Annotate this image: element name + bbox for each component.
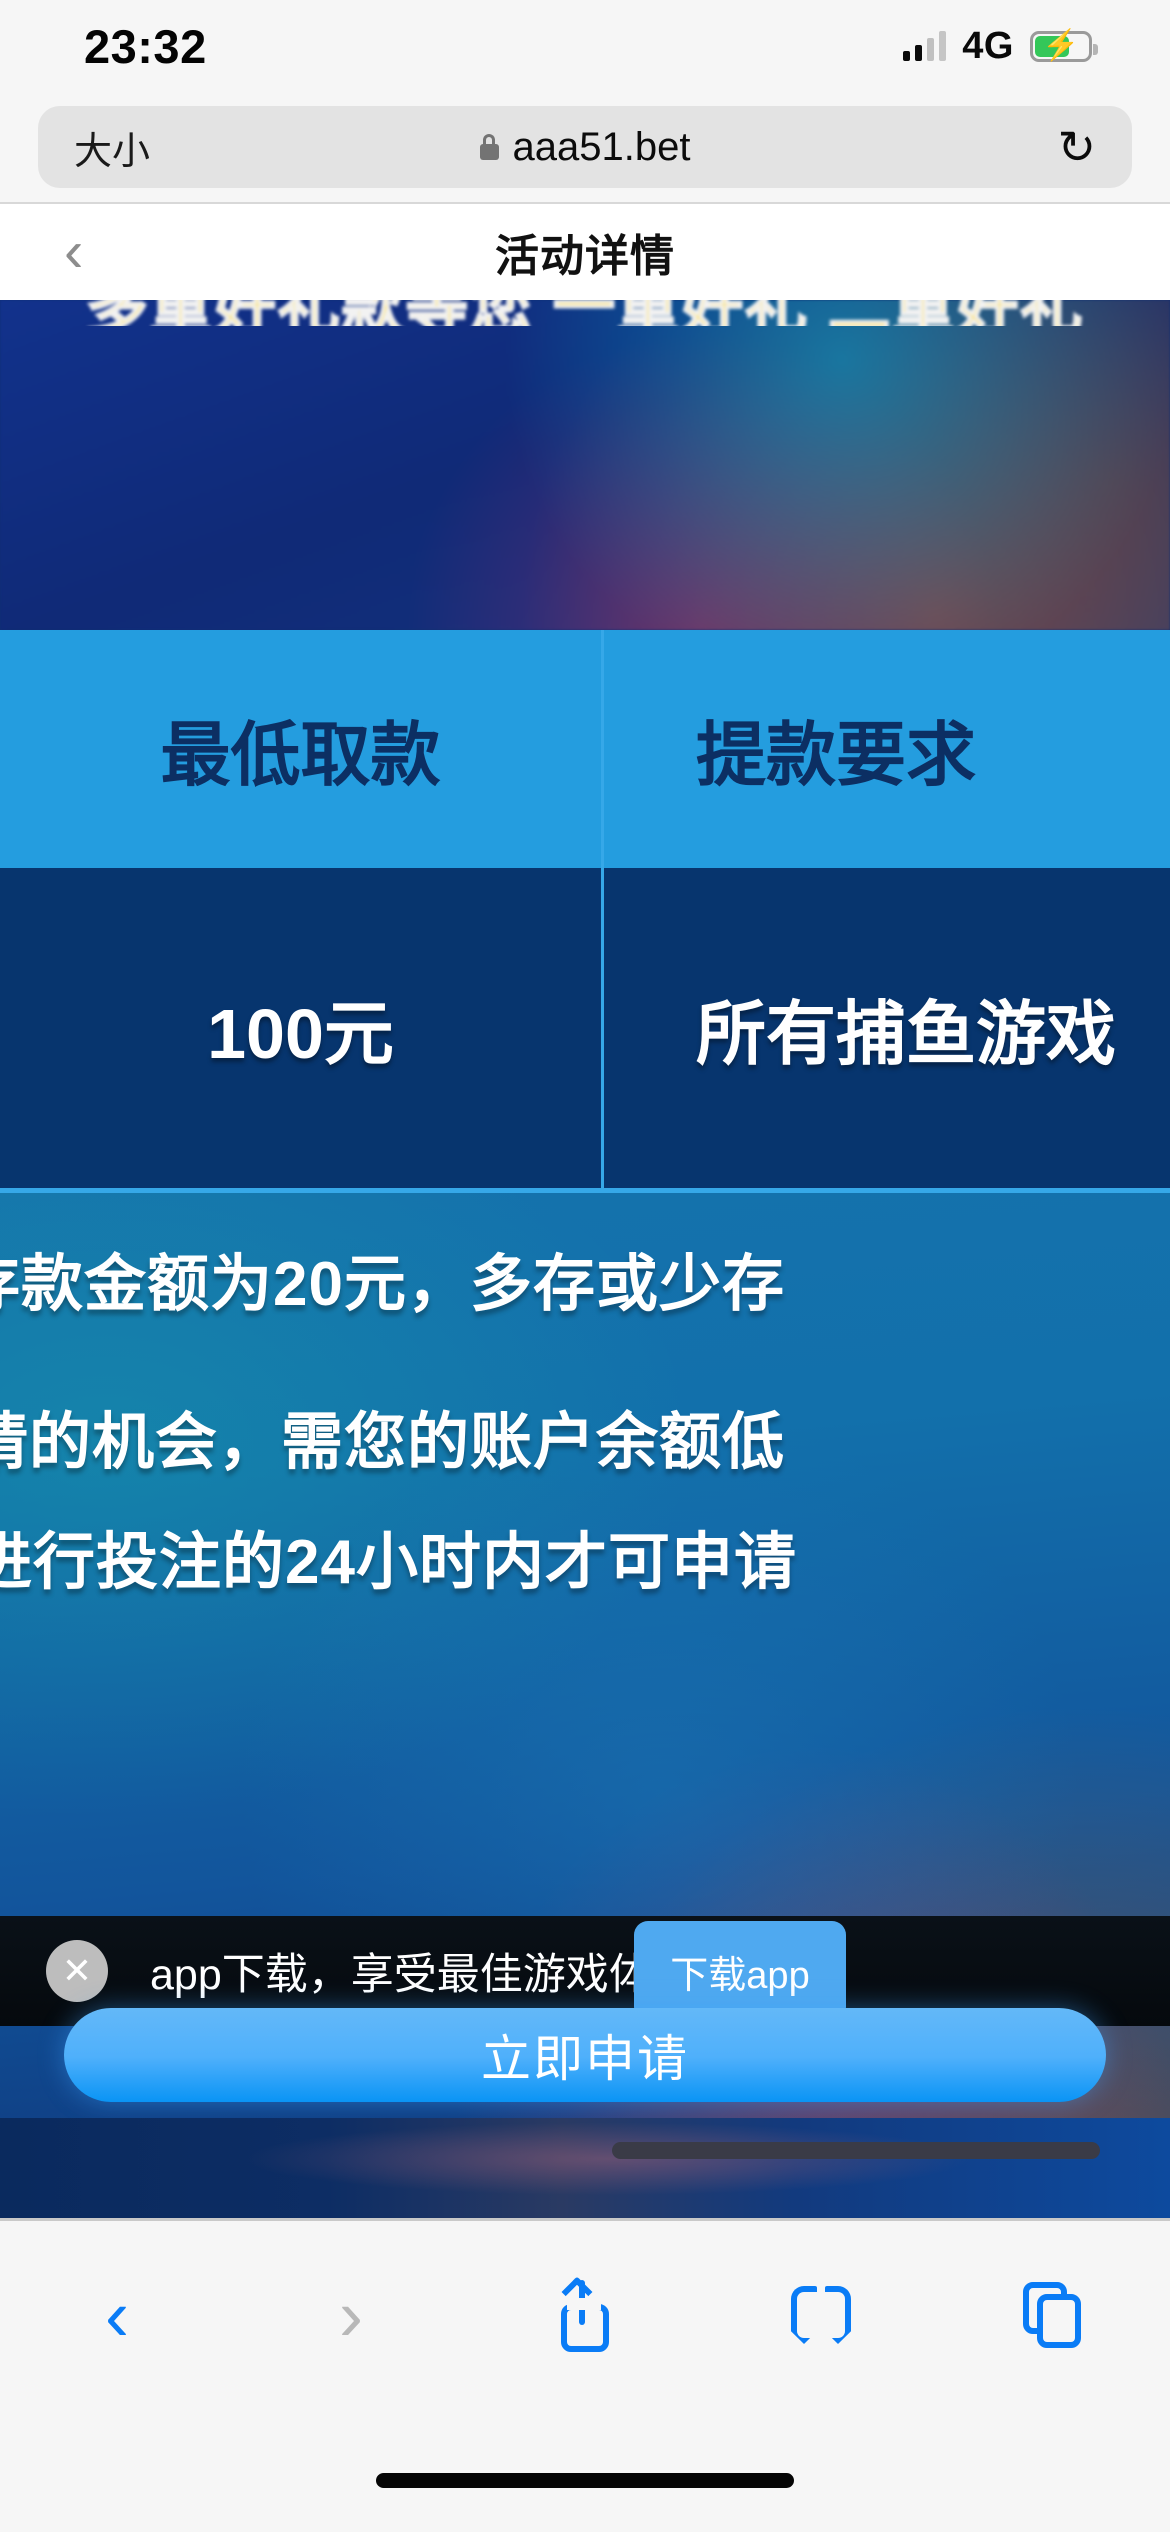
tabs-icon — [1021, 2280, 1085, 2352]
promo-banner-image — [0, 300, 1170, 630]
reload-icon[interactable]: ↻ — [1057, 124, 1096, 170]
app-banner-message: app下载，享受最佳游戏体验 — [150, 1940, 695, 2002]
chevron-right-icon: › — [339, 2280, 363, 2352]
browser-back-button[interactable]: ‹ — [0, 2280, 234, 2352]
apply-button-container: 立即申请 — [0, 2008, 1170, 2108]
bookmarks-button[interactable] — [702, 2280, 936, 2352]
close-icon[interactable]: ✕ — [46, 1940, 108, 2002]
table-row: 100元 所有捕鱼游戏 — [0, 868, 1170, 1188]
banner-headline-text: 多重好礼款等您 一重好礼 二重好礼 — [0, 300, 1170, 326]
table-cell: 所有捕鱼游戏 — [604, 868, 1170, 1188]
banner-headline-clipped: 多重好礼款等您 一重好礼 二重好礼 — [0, 300, 1170, 326]
page-footer-area — [0, 2118, 1170, 2220]
page-nav-header: ‹ 活动详情 — [0, 204, 1170, 300]
share-button[interactable] — [468, 2280, 702, 2352]
network-type-label: 4G — [962, 25, 1014, 68]
signal-bars-icon — [903, 31, 946, 61]
book-icon — [787, 2280, 851, 2352]
apply-now-button[interactable]: 立即申请 — [64, 2008, 1106, 2102]
url-display[interactable]: aaa51.bet — [38, 125, 1132, 170]
rules-table: 最低取款 提款要求 100元 所有捕鱼游戏 — [0, 630, 1170, 1188]
page-title: 活动详情 — [495, 220, 675, 284]
rules-line: 进行投注的24小时内才可申请 — [0, 1511, 797, 1601]
download-app-button[interactable]: 下载app — [634, 1921, 846, 2021]
status-time: 23:32 — [84, 19, 207, 74]
status-bar: 23:32 4G ⚡ — [0, 0, 1170, 92]
toolbar-icons: ‹ › — [0, 2221, 1170, 2411]
table-cell: 100元 — [0, 868, 604, 1188]
horizontal-scrollbar[interactable] — [612, 2142, 1100, 2159]
iphone-screen: 23:32 4G ⚡ 大小 aaa51.bet ↻ ‹ 活动详情 — [0, 0, 1170, 2532]
table-header-cell: 提款要求 — [604, 630, 1170, 868]
tabs-button[interactable] — [936, 2280, 1170, 2352]
browser-toolbar: ‹ › — [0, 2221, 1170, 2532]
browser-address-bar-container: 大小 aaa51.bet ↻ — [0, 92, 1170, 202]
lock-icon — [480, 134, 499, 160]
url-text: aaa51.bet — [513, 125, 691, 170]
home-indicator — [376, 2473, 794, 2488]
status-indicators: 4G ⚡ — [903, 25, 1092, 68]
table-header-row: 最低取款 提款要求 — [0, 630, 1170, 868]
address-bar[interactable]: 大小 aaa51.bet ↻ — [38, 106, 1132, 188]
rules-line: 存款金额为20元，多存或少存 — [0, 1233, 785, 1323]
chevron-left-icon: ‹ — [105, 2280, 129, 2352]
table-header-cell: 最低取款 — [0, 630, 604, 868]
battery-charging-icon: ⚡ — [1030, 31, 1092, 62]
browser-forward-button[interactable]: › — [234, 2280, 468, 2352]
share-icon — [553, 2280, 617, 2352]
page-back-icon[interactable]: ‹ — [64, 223, 83, 281]
rules-line: 请的机会，需您的账户余额低 — [0, 1391, 785, 1481]
webpage-content: 多重好礼款等您 一重好礼 二重好礼 最低取款 提款要求 100元 所有捕鱼游戏 … — [0, 300, 1170, 2220]
